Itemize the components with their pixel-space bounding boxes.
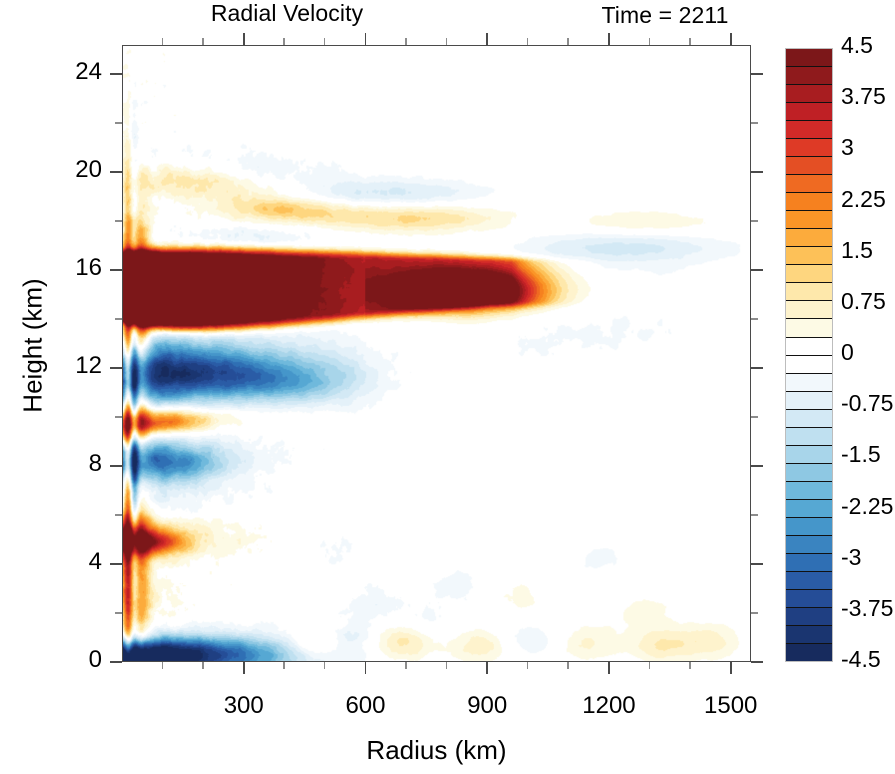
tick-mark <box>202 662 203 669</box>
colorbar-level <box>786 608 832 626</box>
colorbar-level <box>786 338 832 356</box>
tick-mark <box>730 662 732 674</box>
tick-mark <box>110 661 122 663</box>
tick-mark <box>365 33 367 45</box>
colorbar-tick-label: -3.75 <box>841 595 893 622</box>
y-tick-label: 4 <box>0 548 102 576</box>
colorbar <box>785 48 833 662</box>
colorbar-level <box>786 446 832 464</box>
colorbar-level <box>786 229 832 247</box>
colorbar-level <box>786 410 832 428</box>
tick-mark <box>405 38 406 45</box>
tick-mark <box>751 612 758 613</box>
tick-mark <box>162 38 163 45</box>
tick-mark <box>365 662 367 674</box>
tick-mark <box>110 269 122 271</box>
colorbar-tick-label: 0 <box>841 339 854 366</box>
tick-mark <box>751 73 763 75</box>
x-tick-label: 1200 <box>549 692 669 720</box>
tick-mark <box>689 662 690 669</box>
tick-mark <box>649 662 650 669</box>
colorbar-swatches <box>786 49 832 661</box>
tick-mark <box>751 367 763 369</box>
tick-mark <box>608 33 610 45</box>
colorbar-level <box>786 283 832 301</box>
tick-mark <box>283 662 284 669</box>
colorbar-tick-label: 2.25 <box>841 186 886 213</box>
tick-mark <box>110 73 122 75</box>
tick-mark <box>115 122 122 123</box>
colorbar-level <box>786 265 832 283</box>
colorbar-level <box>786 374 832 392</box>
tick-mark <box>751 465 763 467</box>
tick-mark <box>751 220 758 221</box>
colorbar-level <box>786 482 832 500</box>
tick-mark <box>567 662 568 669</box>
colorbar-level <box>786 536 832 554</box>
colorbar-tick-label: 0.75 <box>841 288 886 315</box>
tick-mark <box>751 661 763 663</box>
tick-mark <box>243 33 245 45</box>
colorbar-level <box>786 139 832 157</box>
plot-area <box>122 45 751 662</box>
tick-mark <box>115 514 122 515</box>
colorbar-level <box>786 49 832 67</box>
colorbar-level <box>786 644 832 661</box>
colorbar-tick-label: -4.5 <box>841 646 881 673</box>
y-tick-label: 12 <box>0 352 102 380</box>
tick-mark <box>115 318 122 319</box>
tick-mark <box>324 38 325 45</box>
colorbar-tick-label: 3 <box>841 134 854 161</box>
colorbar-tick-label: 3.75 <box>841 83 886 110</box>
colorbar-level <box>786 85 832 103</box>
colorbar-level <box>786 356 832 374</box>
colorbar-level <box>786 175 832 193</box>
tick-mark <box>608 662 610 674</box>
colorbar-tick-label: -1.5 <box>841 441 881 468</box>
tick-mark <box>567 38 568 45</box>
colorbar-level <box>786 157 832 175</box>
tick-mark <box>110 563 122 565</box>
tick-mark <box>751 563 763 565</box>
y-axis-title: Height (km) <box>18 216 49 476</box>
x-tick-label: 1500 <box>671 692 791 720</box>
tick-mark <box>486 33 488 45</box>
colorbar-tick-label: 4.5 <box>841 32 873 59</box>
colorbar-level <box>786 500 832 518</box>
x-axis-title: Radius (km) <box>122 735 751 766</box>
tick-mark <box>283 38 284 45</box>
tick-mark <box>405 662 406 669</box>
tick-mark <box>689 38 690 45</box>
tick-mark <box>202 38 203 45</box>
tick-mark <box>730 33 732 45</box>
radial-velocity-figure: Radial Velocity Time = 2211 300600900120… <box>0 0 895 774</box>
colorbar-level <box>786 572 832 590</box>
tick-mark <box>751 122 758 123</box>
colorbar-level <box>786 211 832 229</box>
colorbar-tick-label: -3 <box>841 544 861 571</box>
tick-mark <box>751 269 763 271</box>
tick-mark <box>110 171 122 173</box>
tick-mark <box>751 514 758 515</box>
y-tick-label: 24 <box>0 58 102 86</box>
time-label: Time = 2211 <box>560 2 770 29</box>
colorbar-level <box>786 518 832 536</box>
tick-mark <box>649 38 650 45</box>
colorbar-level <box>786 464 832 482</box>
y-tick-label: 16 <box>0 254 102 282</box>
tick-mark <box>446 662 447 669</box>
tick-mark <box>110 367 122 369</box>
x-tick-label: 300 <box>184 692 304 720</box>
tick-mark <box>243 662 245 674</box>
colorbar-tick-label: -2.25 <box>841 493 893 520</box>
tick-mark <box>751 171 763 173</box>
tick-mark <box>110 465 122 467</box>
colorbar-level <box>786 121 832 139</box>
tick-mark <box>115 416 122 417</box>
radial-velocity-heatmap <box>123 46 750 661</box>
tick-mark <box>486 662 488 674</box>
tick-mark <box>324 662 325 669</box>
y-tick-label: 8 <box>0 450 102 478</box>
colorbar-level <box>786 590 832 608</box>
colorbar-level <box>786 554 832 572</box>
x-tick-label: 600 <box>305 692 425 720</box>
colorbar-level <box>786 193 832 211</box>
x-tick-label: 900 <box>427 692 547 720</box>
colorbar-level <box>786 392 832 410</box>
tick-mark <box>751 318 758 319</box>
page-title: Radial Velocity <box>122 0 452 27</box>
tick-mark <box>446 38 447 45</box>
tick-mark <box>115 612 122 613</box>
tick-mark <box>527 38 528 45</box>
colorbar-level <box>786 319 832 337</box>
colorbar-level <box>786 301 832 319</box>
colorbar-level <box>786 247 832 265</box>
heatmap-field <box>123 46 750 661</box>
y-tick-label: 0 <box>0 646 102 674</box>
tick-mark <box>751 416 758 417</box>
colorbar-level <box>786 103 832 121</box>
colorbar-tick-label: -0.75 <box>841 390 893 417</box>
colorbar-tick-label: 1.5 <box>841 237 873 264</box>
tick-mark <box>527 662 528 669</box>
tick-mark <box>115 220 122 221</box>
colorbar-level <box>786 428 832 446</box>
tick-mark <box>162 662 163 669</box>
y-tick-label: 20 <box>0 156 102 184</box>
colorbar-level <box>786 67 832 85</box>
colorbar-level <box>786 626 832 644</box>
